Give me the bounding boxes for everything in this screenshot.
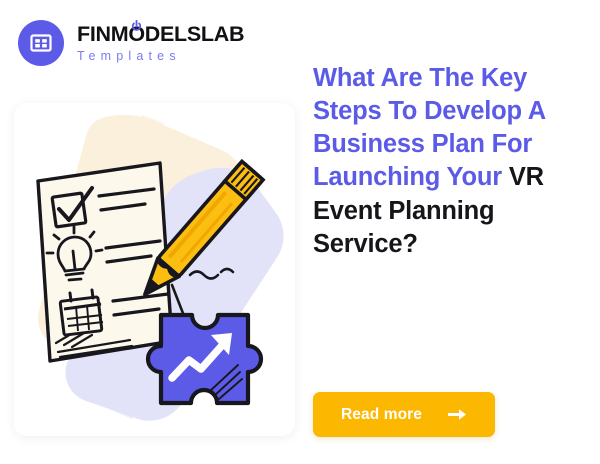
page-title: What Are The Key Steps To Develop A Busi… <box>313 62 591 261</box>
puzzle-piece-growth-arrow <box>148 315 261 403</box>
brand-name-text: FINMODELSLAB <box>77 22 244 46</box>
read-more-label: Read more <box>341 406 422 424</box>
brand-name: FINMODELSLAB <box>77 24 244 46</box>
brand-wordmark: FINMODELSLAB Templates <box>77 24 244 62</box>
grid-squares-icon <box>29 31 53 55</box>
checklist-document <box>38 163 172 361</box>
business-plan-illustration-card <box>14 103 295 436</box>
business-plan-checklist-illustration <box>14 103 295 436</box>
finmodelslab-logo-mark <box>18 20 64 66</box>
brand-subtitle: Templates <box>77 50 244 63</box>
read-more-button[interactable]: Read more <box>313 392 495 437</box>
arrow-right-icon <box>448 408 467 421</box>
brand-header[interactable]: FINMODELSLAB Templates <box>18 20 244 66</box>
content-column: What Are The Key Steps To Develop A Busi… <box>313 62 591 261</box>
